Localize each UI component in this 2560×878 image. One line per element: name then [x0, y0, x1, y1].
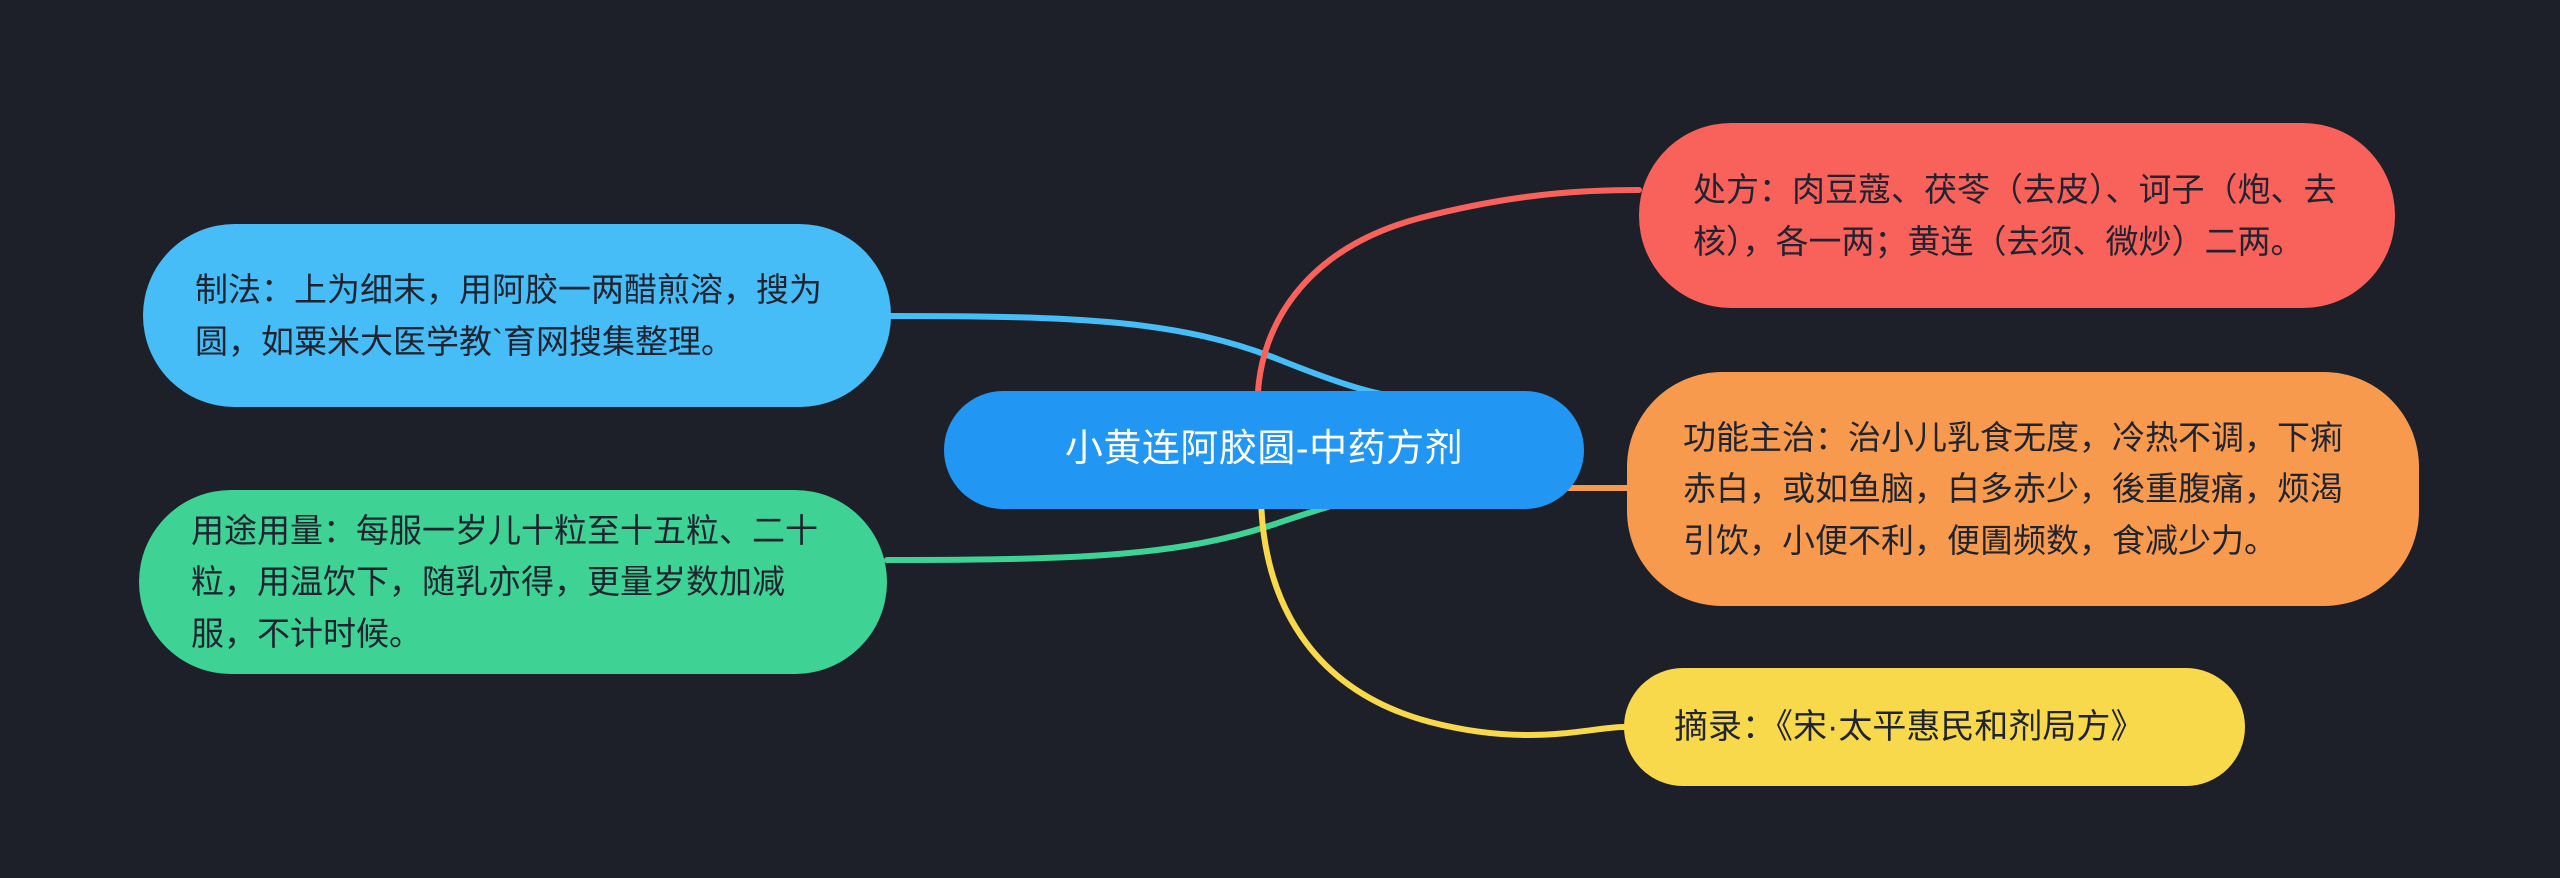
branch-node-zhailu[interactable]: 摘录：《宋·太平惠民和剂局方》	[1624, 668, 2245, 786]
branch-node-zhifa-label: 制法：上为细末，用阿胶一两醋煎溶，搜为圆，如粟米大医学教`育网搜集整理。	[195, 264, 839, 367]
branch-node-yongtu-label: 用途用量：每服一岁儿十粒至十五粒、二十粒，用温饮下，随乳亦得，更量岁数加减服，不…	[191, 505, 835, 659]
branch-node-zhailu-label: 摘录：《宋·太平惠民和剂局方》	[1674, 705, 2195, 749]
root-node-label: 小黄连阿胶圆-中药方剂	[944, 426, 1584, 474]
mindmap-canvas: 制法：上为细末，用阿胶一两醋煎溶，搜为圆，如粟米大医学教`育网搜集整理。 用途用…	[0, 0, 2560, 878]
connector-zhailu	[1261, 500, 1624, 735]
connector-chufang	[1258, 190, 1639, 392]
branch-node-chufang-label: 处方：肉豆蔻、茯苓（去皮）、诃子（炮、去核），各一两；黄连（去须、微炒）二两。	[1693, 164, 2341, 267]
branch-node-yongtu[interactable]: 用途用量：每服一岁儿十粒至十五粒、二十粒，用温饮下，随乳亦得，更量岁数加减服，不…	[139, 490, 887, 674]
branch-node-gongneng[interactable]: 功能主治：治小儿乳食无度，冷热不调，下痢赤白，或如鱼脑，白多赤少，後重腹痛，烦渴…	[1627, 372, 2419, 606]
branch-node-zhifa[interactable]: 制法：上为细末，用阿胶一两醋煎溶，搜为圆，如粟米大医学教`育网搜集整理。	[143, 224, 891, 407]
branch-node-gongneng-label: 功能主治：治小儿乳食无度，冷热不调，下痢赤白，或如鱼脑，白多赤少，後重腹痛，烦渴…	[1683, 412, 2363, 566]
connector-zhifa	[891, 316, 1420, 400]
root-node[interactable]: 小黄连阿胶圆-中药方剂	[944, 391, 1584, 509]
branch-node-chufang[interactable]: 处方：肉豆蔻、茯苓（去皮）、诃子（炮、去核），各一两；黄连（去须、微炒）二两。	[1639, 123, 2395, 308]
